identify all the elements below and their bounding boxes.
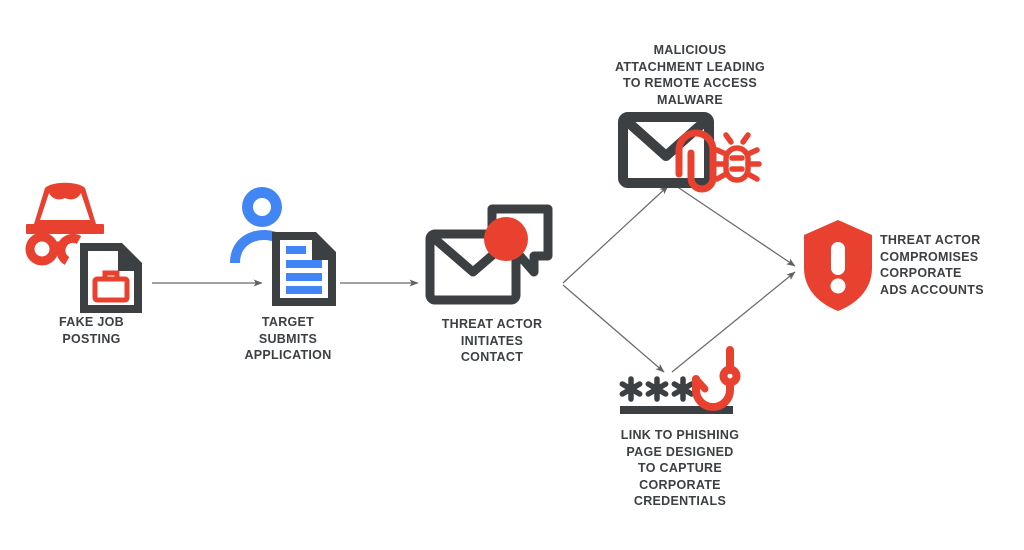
password-asterisks-icon bbox=[622, 379, 691, 399]
caption-target-submits-application: TARGET SUBMITS APPLICATION bbox=[202, 314, 374, 364]
arrow-contact-to-attachment bbox=[563, 186, 668, 283]
node-threat-actor-initiates-contact: THREAT ACTOR INITIATES CONTACT bbox=[424, 204, 559, 319]
bug-icon bbox=[715, 135, 759, 180]
shield-alert-icon bbox=[804, 220, 872, 311]
document-icon bbox=[272, 232, 336, 306]
caption-threat-actor-compromises-accounts: THREAT ACTOR COMPROMISES CORPORATE ADS A… bbox=[880, 232, 1024, 298]
caption-phishing-link: LINK TO PHISHING PAGE DESIGNED TO CAPTUR… bbox=[590, 427, 770, 510]
caption-fake-job-posting: FAKE JOB POSTING bbox=[4, 314, 179, 347]
fishhook-icon bbox=[696, 350, 737, 407]
incognito-hat-icon bbox=[26, 183, 104, 234]
attack-chain-diagram: FAKE JOB POSTING T bbox=[0, 0, 1024, 550]
node-phishing-link: LINK TO PHISHING PAGE DESIGNED TO CAPTUR… bbox=[620, 348, 760, 423]
envelope-icon bbox=[623, 117, 709, 183]
caption-malicious-attachment: MALICIOUS ATTACHMENT LEADING TO REMOTE A… bbox=[570, 42, 810, 108]
notification-dot-icon bbox=[484, 217, 528, 261]
node-target-submits-application: TARGET SUBMITS APPLICATION bbox=[228, 186, 348, 316]
document-icon bbox=[80, 243, 142, 313]
node-fake-job-posting: FAKE JOB POSTING bbox=[26, 180, 156, 310]
arrow-attachment-to-compromise bbox=[676, 186, 795, 266]
caption-threat-actor-initiates-contact: THREAT ACTOR INITIATES CONTACT bbox=[406, 316, 578, 366]
incognito-glasses-icon bbox=[30, 237, 79, 261]
node-threat-actor-compromises-accounts: THREAT ACTOR COMPROMISES CORPORATE ADS A… bbox=[800, 218, 876, 313]
node-malicious-attachment: MALICIOUS ATTACHMENT LEADING TO REMOTE A… bbox=[618, 112, 758, 192]
